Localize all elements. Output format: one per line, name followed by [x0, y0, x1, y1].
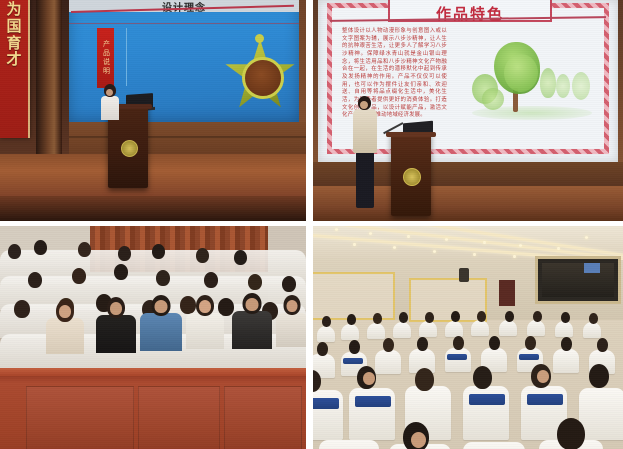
- ceiling-downlight: [369, 232, 372, 235]
- judge-body: [46, 318, 84, 354]
- school-crest-icon: [121, 140, 138, 157]
- student-head: [383, 338, 394, 352]
- audience-head: [248, 274, 262, 290]
- audience-head: [114, 264, 128, 280]
- audience-head: [8, 244, 21, 259]
- hall-banner-char-4: 才: [6, 52, 21, 69]
- tree-background-1: [540, 68, 556, 98]
- slide-side-label: 产品说明: [101, 40, 111, 76]
- control-booth-window: [535, 256, 621, 304]
- stage-floor-shadow: [0, 196, 306, 221]
- ceiling: [313, 226, 623, 260]
- audience-head: [78, 242, 91, 257]
- ceiling-cove-light: [313, 226, 623, 260]
- photo-collage: 为 国 育 才 设计理念 产品说明: [0, 0, 623, 449]
- auditorium-seat: [553, 349, 579, 373]
- hall-banner-char-3: 育: [6, 36, 21, 53]
- panel-top-right: 作品特色 整体设计以人物动漫形象与创意图入或以文字图案为辅，展示八步沙精神，让人…: [313, 0, 623, 221]
- table-panel: [224, 386, 302, 449]
- audience-head: [282, 276, 296, 292]
- judge-face: [246, 298, 259, 311]
- student-head: [399, 312, 408, 323]
- student-face: [411, 432, 426, 448]
- hall-banner-char-1: 为: [6, 2, 21, 19]
- slide-divider-line: [126, 28, 127, 86]
- student-face: [363, 372, 375, 385]
- judge-person: [140, 295, 182, 351]
- judge-person: [186, 295, 224, 349]
- audience-head: [204, 272, 218, 288]
- tree-background-3: [572, 72, 590, 100]
- student-head: [589, 313, 598, 324]
- ceiling-downlight: [445, 238, 448, 241]
- tree-shrub-left-lower: [482, 88, 504, 110]
- seat-cushion: [313, 398, 339, 409]
- auditorium-seat: [341, 324, 359, 340]
- side-door: [499, 280, 515, 306]
- slide-accent-line-secondary: [69, 23, 299, 24]
- student-head: [489, 336, 500, 350]
- judge-body: [96, 315, 136, 353]
- presenter-shirt: [353, 109, 377, 153]
- watercolor-tree-illustration: [466, 40, 598, 122]
- star-center-photo: [242, 57, 284, 99]
- judge-body: [140, 313, 182, 351]
- auditorium-seat: [445, 348, 471, 372]
- presenter-face: [106, 89, 113, 96]
- seat-cushion: [527, 394, 563, 405]
- student-head: [473, 366, 492, 389]
- panel-top-left: 为 国 育 才 设计理念 产品说明: [0, 0, 306, 221]
- presenter-male: [353, 96, 377, 220]
- tree-background-2: [556, 74, 570, 98]
- student-head: [561, 337, 572, 351]
- judge-body: [186, 313, 224, 349]
- ceiling-downlight: [513, 255, 516, 258]
- audience-seating: [313, 310, 623, 449]
- judges-table: [0, 368, 306, 449]
- judge-body: [276, 313, 306, 347]
- student-head: [417, 337, 428, 351]
- judge-face: [287, 300, 298, 312]
- student-head: [597, 338, 608, 352]
- ceiling-downlight: [335, 228, 338, 231]
- judge-person: [232, 293, 272, 349]
- table-top-edge: [0, 368, 306, 376]
- student-head: [561, 312, 570, 323]
- ceiling-downlight: [519, 244, 522, 247]
- presenter-face: [360, 101, 368, 109]
- auditorium-seat: [445, 321, 463, 337]
- tree-canopy-highlight: [504, 54, 538, 92]
- seat-cushion: [343, 358, 363, 364]
- auditorium-seat: [463, 442, 525, 449]
- ceiling-downlight: [557, 247, 560, 250]
- auditorium-seat: [419, 321, 437, 337]
- star-emblem-icon: [224, 39, 296, 111]
- student-head: [557, 418, 585, 449]
- auditorium-seat: [317, 326, 335, 342]
- auditorium-seat: [375, 350, 401, 374]
- student-head: [533, 311, 542, 322]
- student-head: [589, 364, 609, 388]
- auditorium-seat: [527, 320, 545, 336]
- ceiling-downlight: [393, 246, 396, 249]
- student-head: [317, 342, 328, 356]
- ceiling-downlight: [433, 250, 436, 253]
- ceiling-downlight: [483, 241, 486, 244]
- booth-monitor-icon: [584, 263, 600, 273]
- booth-glass: [542, 263, 614, 297]
- judge-face: [199, 300, 211, 313]
- seat-cushion: [355, 396, 391, 407]
- seat-cushion: [469, 394, 505, 405]
- student-head: [525, 336, 536, 350]
- audience-head: [196, 248, 209, 263]
- auditorium-seat: [555, 321, 573, 337]
- slide-side-label-box: 产品说明: [97, 28, 114, 88]
- audience-head: [156, 270, 170, 286]
- student-head: [451, 311, 460, 322]
- audience-head: [118, 246, 131, 261]
- student-head: [477, 311, 486, 322]
- ceiling-downlight: [353, 243, 356, 246]
- judge-body: [232, 311, 272, 349]
- seat-cushion: [519, 354, 539, 360]
- ceiling-downlight: [407, 235, 410, 238]
- presenter-female: [100, 84, 120, 120]
- panel-bottom-left: [0, 226, 306, 449]
- hall-banner-char-2: 国: [6, 19, 21, 36]
- ceiling-downlight: [585, 236, 588, 239]
- student-head: [505, 311, 514, 322]
- seat-cushion: [447, 354, 467, 360]
- hall-banner-vertical: 为 国 育 才: [0, 0, 30, 138]
- auditorium-seat: [471, 320, 489, 336]
- judge-face: [155, 300, 168, 313]
- judge-person: [96, 297, 136, 353]
- student-head: [373, 313, 382, 324]
- podium-top-ledge: [386, 132, 436, 137]
- presenter-body: [101, 96, 119, 120]
- audience-head: [28, 272, 42, 288]
- auditorium-seat: [583, 322, 601, 338]
- panel-bottom-right: [313, 226, 623, 449]
- wall-speaker-icon: [459, 268, 469, 282]
- student-head: [425, 312, 434, 323]
- auditorium-seat: [367, 323, 385, 339]
- judge-person: [46, 300, 84, 354]
- judge-face: [59, 305, 71, 318]
- school-crest-icon: [403, 168, 421, 186]
- audience-head: [234, 250, 247, 265]
- student-head: [415, 368, 434, 391]
- judge-person: [276, 295, 306, 347]
- student-head: [453, 336, 464, 350]
- judge-face: [110, 302, 122, 315]
- audience-head: [72, 268, 86, 284]
- table-panel: [26, 386, 134, 449]
- audience-head: [14, 300, 30, 318]
- ceiling-downlight: [473, 253, 476, 256]
- audience-head: [34, 240, 47, 255]
- presenter-legs: [356, 152, 374, 208]
- auditorium-seat: [579, 388, 623, 440]
- table-panel: [138, 386, 220, 449]
- star-top-bead: [255, 34, 264, 43]
- audience-head: [152, 244, 165, 259]
- stage-front-wall: [69, 122, 306, 154]
- auditorium-seat: [319, 440, 379, 449]
- student-head: [349, 340, 360, 354]
- student-face: [537, 370, 549, 383]
- student-head: [347, 314, 356, 325]
- auditorium-seat: [393, 322, 411, 338]
- auditorium-seat: [499, 320, 517, 336]
- speaker-podium: [391, 132, 431, 216]
- student-head: [322, 316, 331, 327]
